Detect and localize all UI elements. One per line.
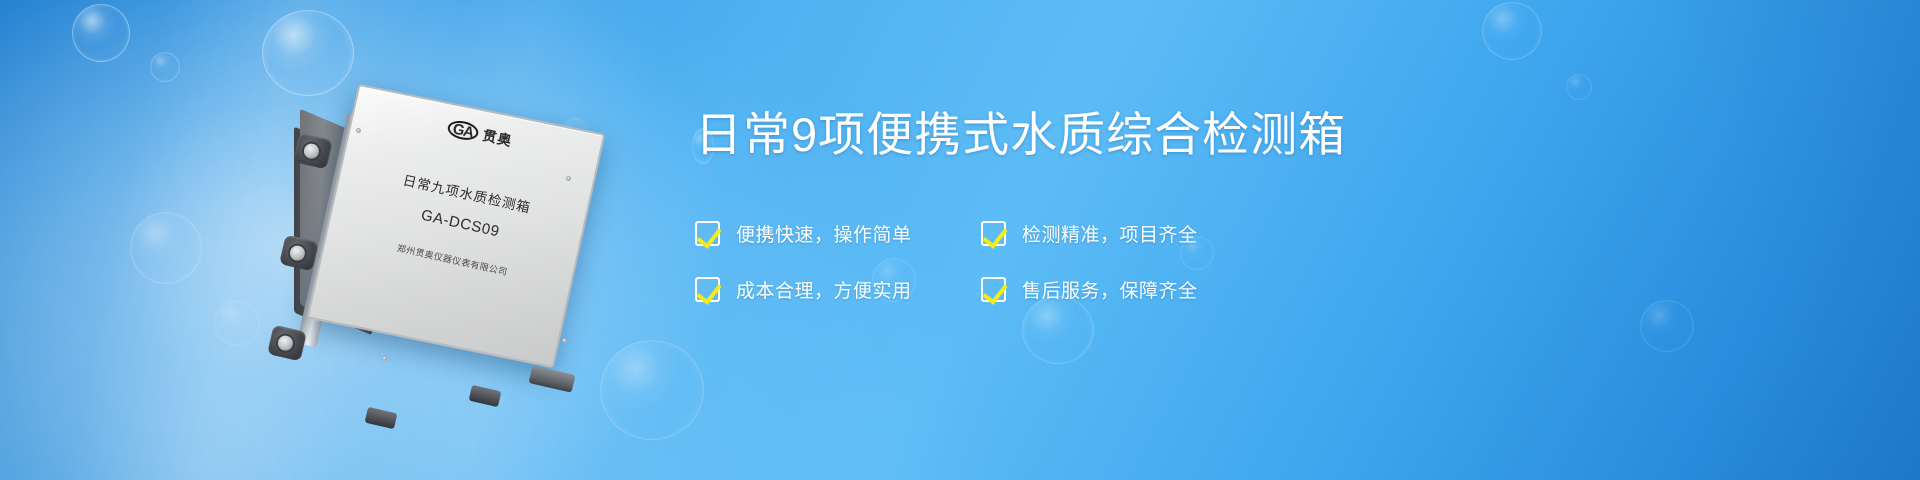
feature-label: 售后服务，保障齐全 <box>1022 276 1198 303</box>
check-box-icon <box>695 277 720 302</box>
product-image: GA 贯奥 日常九项水质检测箱 GA-DCS09 郑州贯奥仪器仪表有限公司 <box>270 88 610 380</box>
bubble-icon <box>1640 300 1694 352</box>
bubble-icon <box>1482 2 1542 60</box>
feature-label: 成本合理，方便实用 <box>736 276 912 303</box>
bubble-icon <box>150 52 180 82</box>
check-box-icon <box>981 221 1006 246</box>
feature-item: 检测精准，项目齐全 <box>981 220 1253 247</box>
product-brand: GA 贯奥 <box>363 99 598 170</box>
feature-list: 便携快速，操作简单 检测精准，项目齐全 成本合理，方便实用 售后服务，保障齐全 <box>695 205 1595 317</box>
panel-screw <box>382 356 387 361</box>
bubble-icon <box>130 212 202 284</box>
product-banner: GA 贯奥 日常九项水质检测箱 GA-DCS09 郑州贯奥仪器仪表有限公司 日常… <box>0 0 1920 480</box>
bubble-icon <box>600 340 704 440</box>
brand-name: 贯奥 <box>481 125 515 151</box>
check-box-icon <box>695 221 720 246</box>
brand-logo-icon: GA <box>446 118 480 142</box>
feature-label: 检测精准，项目齐全 <box>1022 220 1198 247</box>
bubble-icon <box>214 300 260 346</box>
wheel-icon <box>274 332 297 355</box>
panel-printing: GA 贯奥 日常九项水质检测箱 GA-DCS09 郑州贯奥仪器仪表有限公司 <box>319 85 600 365</box>
corner-bumper <box>279 235 319 272</box>
bubble-icon <box>262 10 354 96</box>
bubble-icon <box>1566 74 1592 100</box>
feature-label: 便携快速，操作简单 <box>736 220 912 247</box>
wheel-icon <box>300 140 323 163</box>
feature-item: 成本合理，方便实用 <box>695 276 967 303</box>
bubble-icon <box>72 4 130 62</box>
feature-item: 便携快速，操作简单 <box>695 220 967 247</box>
feature-item: 售后服务，保障齐全 <box>981 276 1253 303</box>
corner-bumper <box>267 325 307 362</box>
panel-screw <box>562 338 567 343</box>
banner-copy: 日常9项便携式水质综合检测箱 便携快速，操作简单 检测精准，项目齐全 成本合理，… <box>695 110 1595 317</box>
banner-headline: 日常9项便携式水质综合检测箱 <box>695 110 1595 159</box>
wheel-icon <box>286 242 309 265</box>
check-box-icon <box>981 277 1006 302</box>
